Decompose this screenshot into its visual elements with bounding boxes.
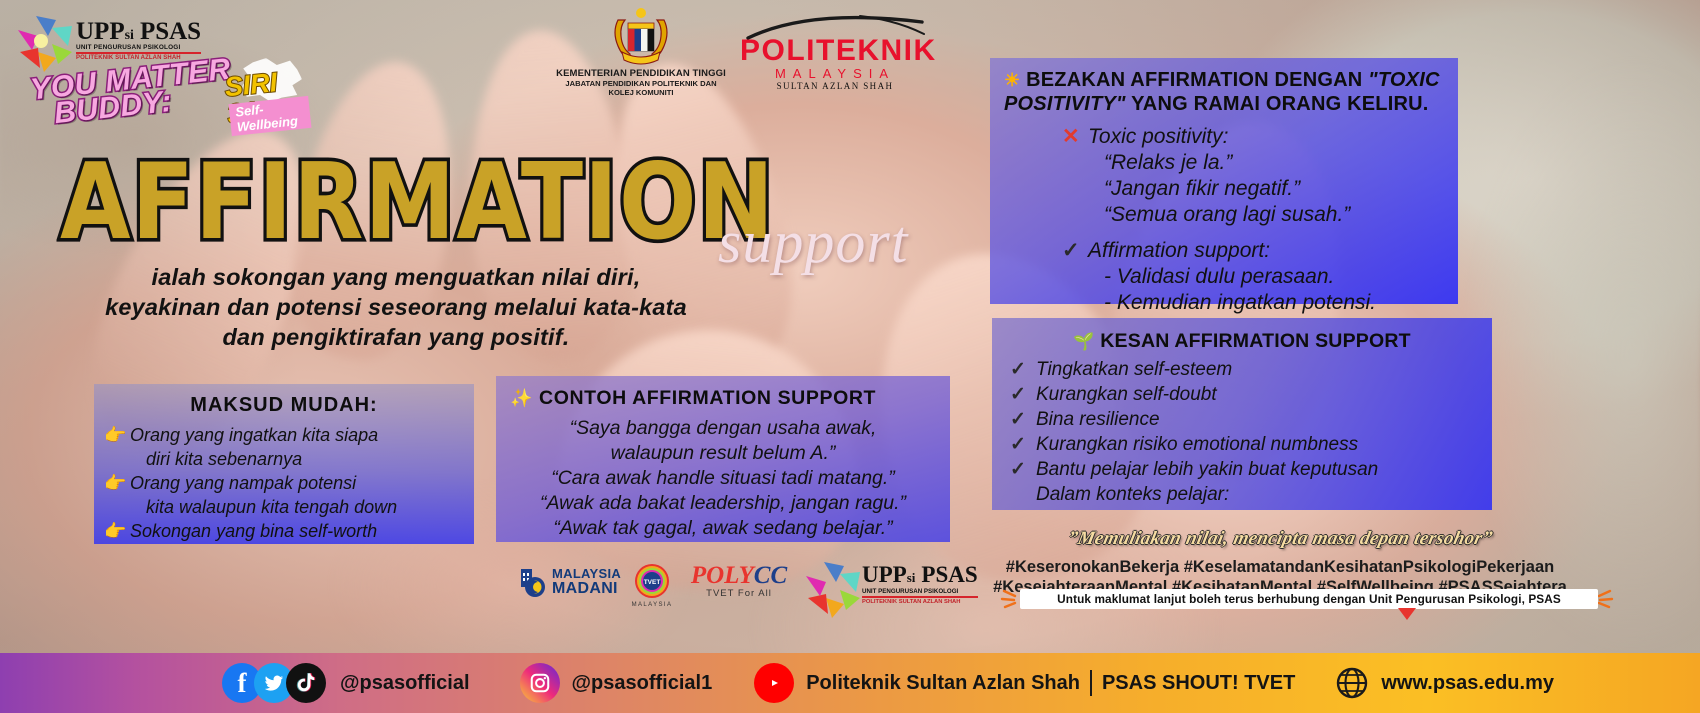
tiktok-icon[interactable]	[286, 663, 326, 703]
panel-bezakan-affirmation: ☀ BEZAKAN AFFIRMATION DENGAN "TOXIC POSI…	[990, 58, 1458, 304]
hero-description: ialah sokongan yang menguatkan nilai dir…	[36, 262, 756, 352]
uppsi-abbr: UPP	[862, 562, 907, 587]
uppsi-psas: PSAS	[921, 562, 977, 587]
affirmation-label: Affirmation support:	[1088, 239, 1270, 262]
pointing-hand-icon: 👉	[104, 471, 130, 495]
pointing-hand-icon: 👉	[104, 423, 130, 447]
panel-kesan-footer: Dalam konteks pelajar:	[1036, 484, 1229, 505]
panel-bezakan-heading: ☀ BEZAKAN AFFIRMATION DENGAN "TOXIC POSI…	[990, 58, 1458, 116]
social-group-main[interactable]: f @psasofficial	[222, 663, 470, 703]
politeknik-country: MALAYSIA	[740, 66, 930, 81]
sun-icon: ☀	[1004, 70, 1020, 90]
youtube-channel-1[interactable]: Politeknik Sultan Azlan Shah	[806, 672, 1080, 695]
panel-contoh-heading: CONTOH AFFIRMATION SUPPORT	[539, 387, 876, 409]
pointing-hand-icon: 👉	[104, 519, 130, 543]
tvet-country-label: MALAYSIA	[624, 602, 680, 608]
panel-contoh-quotes: “Saya bangga dengan usaha awak, walaupun…	[496, 410, 950, 541]
social-handle-instagram[interactable]: @psasofficial1	[572, 672, 713, 695]
madani-line2: MADANI	[552, 581, 621, 597]
uppsi-unit-label: UNIT PENGURUSAN PSIKOLOGI	[862, 588, 978, 595]
list-item: “Relaks je la.”	[1104, 151, 1232, 174]
tvet-malaysia-logo: TVET MALAYSIA	[624, 562, 680, 612]
uppsi-si: si	[125, 28, 134, 43]
globe-icon	[1335, 666, 1369, 700]
list-item-sub: diri kita sebenarnya	[146, 449, 302, 469]
list-item: Tingkatkan self-esteem	[1036, 359, 1232, 380]
institution-tagline: ”Memuliakan nilai, mencipta masa depan t…	[998, 528, 1563, 550]
politeknik-campus: SULTAN AZLAN SHAH	[740, 81, 930, 91]
pinwheel-icon	[806, 562, 862, 618]
ministry-name: KEMENTERIAN PENDIDIKAN TINGGI	[556, 68, 726, 79]
polycc-cc: CC	[754, 562, 787, 589]
website-url[interactable]: www.psas.edu.my	[1381, 672, 1554, 695]
panel-kesan-affirmation-support: 🌱 KESAN AFFIRMATION SUPPORT ✓Tingkatkan …	[992, 318, 1492, 510]
politeknik-logo: POLITEKNIK MALAYSIA SULTAN AZLAN SHAH	[740, 14, 930, 91]
youtube-channel-2[interactable]: PSAS SHOUT! TVET	[1102, 672, 1295, 695]
check-icon: ✓	[1010, 432, 1036, 457]
poster-canvas: UPPsiPSAS UNIT PENGURUSAN PSIKOLOGI POLI…	[0, 0, 1700, 713]
hero-description-line3: dan pengiktirafan yang positif.	[36, 322, 756, 352]
spark-burst-icon	[1000, 588, 1022, 610]
quote-line: “Awak ada bakat leadership, jangan ragu.…	[496, 491, 950, 516]
social-group-website[interactable]: www.psas.edu.my	[1335, 666, 1554, 700]
check-icon: ✓	[1010, 382, 1036, 407]
panel-maksud-list: 👉Orang yang ingatkan kita siapa diri kit…	[94, 417, 474, 543]
madani-mark-icon	[520, 565, 548, 599]
list-item: - Kemudian ingatkan potensi.	[1104, 291, 1376, 314]
campaign-badge: YOU MATTER BUDDY: SIRI 31 Self-Wellbeing	[30, 60, 310, 132]
hero-description-line2: keyakinan dan potensi seseorang melalui …	[36, 292, 756, 322]
panel-kesan-list: ✓Tingkatkan self-esteem ✓Kurangkan self-…	[992, 353, 1492, 507]
polycc-poly: POLY	[691, 562, 754, 589]
malaysia-madani-logo: MALAYSIA MADANI	[520, 565, 630, 605]
list-item: Bantu pelajar lebih yakin buat keputusan	[1036, 459, 1378, 480]
polycc-tagline: TVET For All	[684, 588, 794, 599]
tvet-gear-icon: TVET	[629, 562, 675, 602]
panel-kesan-heading: KESAN AFFIRMATION SUPPORT	[1100, 330, 1411, 352]
ministry-logo: KEMENTERIAN PENDIDIKAN TINGGI JABATAN PE…	[556, 6, 726, 97]
pointer-triangle-icon	[1398, 608, 1416, 620]
panel-contoh-affirmation-support: ✨ CONTOH AFFIRMATION SUPPORT “Saya bangg…	[496, 376, 950, 542]
quote-line: walaupun result belum A.”	[496, 441, 950, 466]
uppsi-si: si	[907, 570, 916, 585]
list-item: “Semua orang lagi susah.”	[1104, 203, 1350, 226]
sparkles-icon: ✨	[510, 388, 533, 408]
campaign-topic: Self-Wellbeing	[229, 96, 312, 136]
uppsi-psas-logo-bottom: UPPsiPSAS UNIT PENGURUSAN PSIKOLOGI POLI…	[806, 558, 976, 612]
list-item: - Validasi dulu perasaan.	[1104, 265, 1334, 288]
panel-bezakan-heading-part1: BEZAKAN AFFIRMATION DENGAN	[1026, 69, 1368, 91]
list-item: Orang yang ingatkan kita siapa	[130, 425, 378, 445]
cross-icon: ✕	[1062, 124, 1088, 150]
seedling-icon: 🌱	[1073, 332, 1094, 351]
list-item: Sokongan yang bina self-worth	[130, 521, 377, 541]
divider	[1090, 670, 1092, 696]
madani-line1: MALAYSIA	[552, 567, 621, 581]
check-icon: ✓	[1062, 238, 1088, 264]
list-item: Bina resilience	[1036, 409, 1160, 430]
malaysia-crest-icon	[604, 6, 678, 68]
panel-contoh-heading-row: ✨ CONTOH AFFIRMATION SUPPORT	[496, 376, 950, 410]
panel-bezakan-heading-part2: YANG RAMAI ORANG KELIRU.	[1126, 93, 1429, 115]
quote-line: “Saya bangga dengan usaha awak,	[496, 416, 950, 441]
social-media-bar: f @psasofficial @psasofficial1 Politekni…	[0, 653, 1700, 713]
social-handle-main[interactable]: @psasofficial	[340, 672, 470, 695]
panel-kesan-heading-row: 🌱 KESAN AFFIRMATION SUPPORT	[992, 318, 1492, 353]
hero-description-line1: ialah sokongan yang menguatkan nilai dir…	[36, 262, 756, 292]
svg-text:TVET: TVET	[644, 579, 661, 586]
uppsi-abbr: UPP	[76, 18, 125, 45]
list-item: “Jangan fikir negatif.”	[1104, 177, 1300, 200]
panel-maksud-mudah: MAKSUD MUDAH: 👉Orang yang ingatkan kita …	[94, 384, 474, 544]
check-icon: ✓	[1010, 357, 1036, 382]
social-group-instagram[interactable]: @psasofficial1	[520, 663, 713, 703]
social-group-youtube[interactable]: Politeknik Sultan Azlan Shah PSAS SHOUT!…	[754, 663, 1295, 703]
quote-line: “Awak tak gagal, awak sedang belajar.”	[496, 516, 950, 541]
uppsi-psas: PSAS	[140, 18, 201, 45]
page-title: AFFIRMATION	[60, 150, 775, 255]
instagram-icon[interactable]	[520, 663, 560, 703]
check-icon: ✓	[1010, 407, 1036, 432]
panel-maksud-heading: MAKSUD MUDAH:	[94, 384, 474, 417]
politeknik-wordmark: POLITEKNIK	[740, 36, 930, 66]
panel-bezakan-toxic-list: ✕Toxic positivity: “Relaks je la.” “Jang…	[990, 116, 1458, 316]
polycc-logo: POLYCC TVET For All	[684, 563, 794, 599]
uppsi-institution-label: POLITEKNIK SULTAN AZLAN SHAH	[862, 599, 978, 605]
quote-line: “Cara awak handle situasi tadi matang.”	[496, 466, 950, 491]
ministry-department: JABATAN PENDIDIKAN POLITEKNIK DAN KOLEJ …	[556, 79, 726, 97]
check-icon: ✓	[1010, 457, 1036, 482]
list-item: Kurangkan self-doubt	[1036, 384, 1217, 405]
contact-notice: Untuk maklumat lanjut boleh terus berhub…	[1020, 589, 1598, 609]
youtube-icon[interactable]	[754, 663, 794, 703]
toxic-label: Toxic positivity:	[1088, 125, 1228, 148]
hashtags-line1: #KeseronokanBekerja #KeselamatandanKesih…	[980, 557, 1580, 577]
list-item: Kurangkan risiko emotional numbness	[1036, 434, 1358, 455]
list-item-sub: kita walaupun kita tengah down	[146, 497, 397, 517]
list-item: Orang yang nampak potensi	[130, 473, 356, 493]
